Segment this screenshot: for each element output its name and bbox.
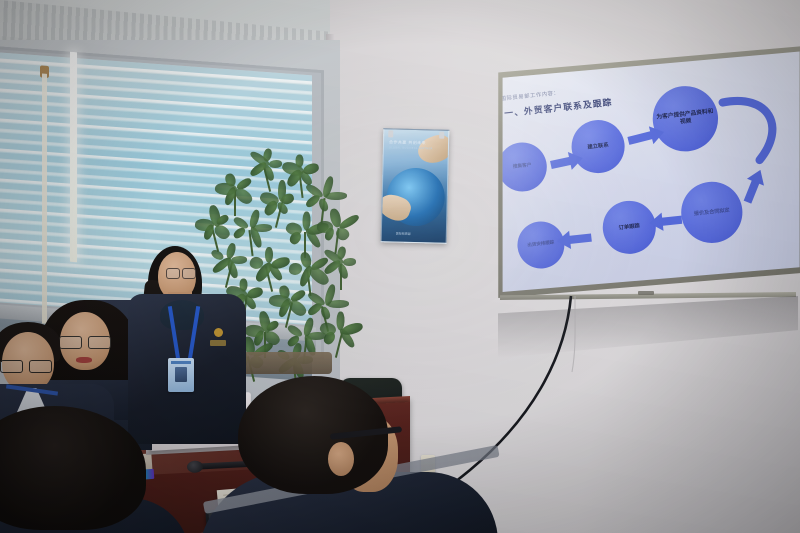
badge-photo <box>175 367 187 382</box>
poster-footer: 国际贸易部 <box>396 232 411 236</box>
person-foreground-seated <box>232 376 462 533</box>
id-badge <box>168 358 194 392</box>
badge-header-bar <box>171 361 191 364</box>
poster-clip-left <box>388 130 393 137</box>
plant-leaf <box>320 305 332 320</box>
screen-glare <box>492 46 800 298</box>
fluorescent-light <box>70 52 77 262</box>
poster-clip-right <box>439 132 444 139</box>
plant-leaf <box>343 258 356 266</box>
display-screen[interactable]: 国际贸易部工作内容： 一、外贸客户联系及跟踪 搜集客户建立联系为客户提供产品资料… <box>492 46 800 298</box>
plant-leaf <box>270 255 291 269</box>
plant-leaf <box>295 154 304 167</box>
jacket-text-patch <box>210 340 226 346</box>
plant-leaf <box>302 162 320 176</box>
poster-subline: GLOBAL BUSINESS PARTNER <box>389 146 433 150</box>
person-hair <box>0 406 146 530</box>
person-ear <box>328 442 354 476</box>
person-bottom-left-seated <box>0 406 160 533</box>
eyeglasses-icon <box>166 268 196 277</box>
eyeglasses-icon <box>0 360 52 371</box>
plant-leaf <box>318 197 330 212</box>
plant-leaf <box>288 262 302 275</box>
blind-cord[interactable] <box>42 74 47 324</box>
poster-headline: 合作共赢 共创未来 <box>389 139 426 146</box>
plant-leaf <box>264 247 273 263</box>
plant-leaf <box>269 160 282 168</box>
wall-display[interactable]: 国际贸易部工作内容： 一、外贸客户联系及跟踪 搜集客户建立联系为客户提供产品资料… <box>492 46 800 298</box>
jacket-emblem-icon <box>214 328 223 337</box>
display-brand-logo <box>638 291 654 295</box>
wall-poster: 合作共赢 共创未来 GLOBAL BUSINESS PARTNER 国际贸易部 <box>381 128 450 244</box>
meeting-room-photo: 合作共赢 共创未来 GLOBAL BUSINESS PARTNER 国际贸易部 … <box>0 0 800 533</box>
